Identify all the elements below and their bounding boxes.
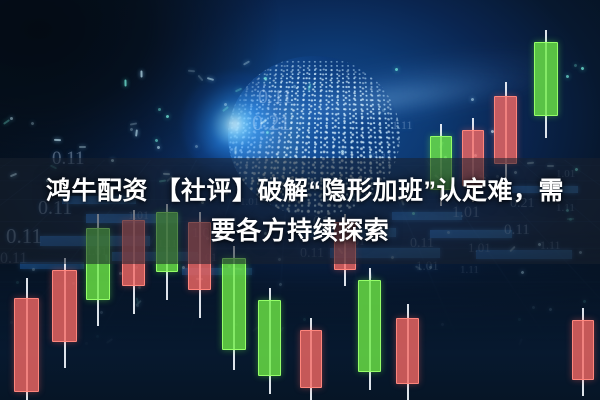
- candlestick-up: [534, 30, 558, 138]
- candle-body: [572, 320, 594, 380]
- candle-body: [258, 300, 281, 376]
- headline-block: 鸿牛配资 【社评】破解“隐形加班”认定难，需 要各方持续探索: [0, 158, 600, 264]
- sparkle-dot: [54, 139, 61, 141]
- candlestick-down: [396, 304, 419, 400]
- candle-body: [534, 42, 558, 116]
- candlestick-down: [572, 308, 594, 396]
- sparkle-dot: [10, 117, 13, 120]
- ticker-number: 0.21: [252, 110, 291, 136]
- candle-body: [222, 258, 246, 350]
- candlestick-down: [52, 258, 77, 368]
- candlestick-down: [14, 278, 39, 400]
- ticker-number: 1.11: [392, 118, 413, 133]
- candle-body: [14, 298, 39, 392]
- sparkle-dot: [234, 147, 236, 154]
- sparkle-dot: [79, 146, 86, 148]
- ticker-number: 0.11: [258, 86, 292, 109]
- sparkle-dot: [140, 70, 142, 77]
- article-cover-image: 0.111.010.111.010.111.011.010.210.113.11…: [0, 0, 600, 400]
- candle-body: [358, 280, 381, 372]
- candle-body: [52, 270, 77, 342]
- headline-line-1: 鸿牛配资 【社评】破解“隐形加班”认定难，需: [36, 171, 564, 211]
- candlestick-up: [222, 246, 246, 370]
- candlestick-up: [358, 268, 381, 390]
- sparkle-dot: [124, 79, 126, 86]
- candlestick-down: [300, 318, 322, 400]
- candle-body: [396, 318, 419, 384]
- headline-line-2: 要各方持续探索: [211, 211, 390, 251]
- candle-body: [494, 96, 517, 164]
- candlestick-up: [258, 288, 281, 394]
- candle-body: [300, 330, 322, 388]
